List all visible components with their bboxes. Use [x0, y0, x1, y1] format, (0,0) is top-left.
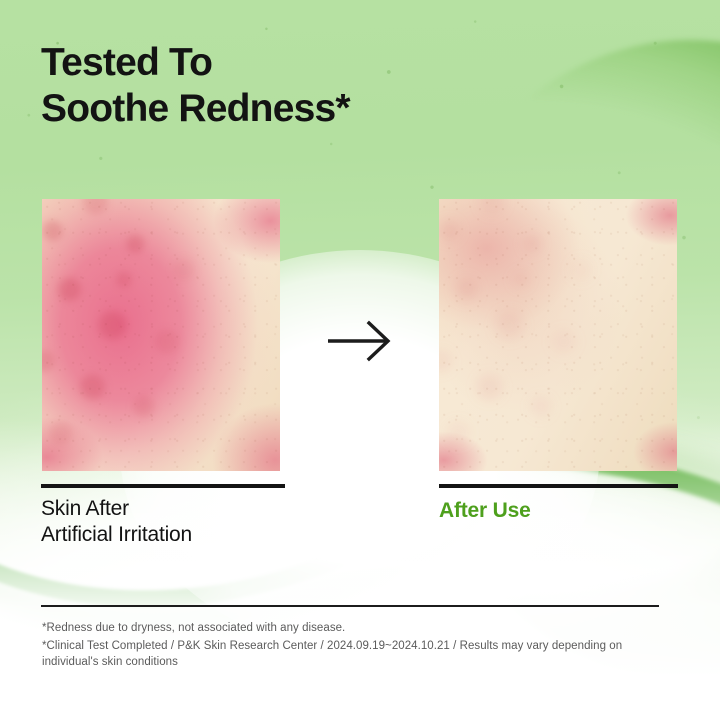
footnote-line-1: *Redness due to dryness, not associated … [42, 620, 666, 637]
promo-card: Tested To Soothe Redness* Skin After Art… [0, 0, 720, 720]
footnote-divider [41, 605, 659, 607]
page-title: Tested To Soothe Redness* [41, 40, 350, 132]
footnote-block: *Redness due to dryness, not associated … [42, 620, 666, 672]
footnote-line-2: *Clinical Test Completed / P&K Skin Rese… [42, 638, 666, 671]
after-caption-rule [439, 484, 678, 488]
before-skin-grain [42, 199, 280, 471]
before-caption: Skin After Artificial Irritation [41, 496, 192, 548]
after-skin-grain [439, 199, 677, 471]
after-caption: After Use [439, 498, 531, 524]
content-layer: Tested To Soothe Redness* Skin After Art… [0, 0, 720, 720]
after-photo [439, 199, 677, 471]
arrow-right-icon [327, 320, 393, 362]
before-photo [42, 199, 280, 471]
before-caption-rule [41, 484, 285, 488]
